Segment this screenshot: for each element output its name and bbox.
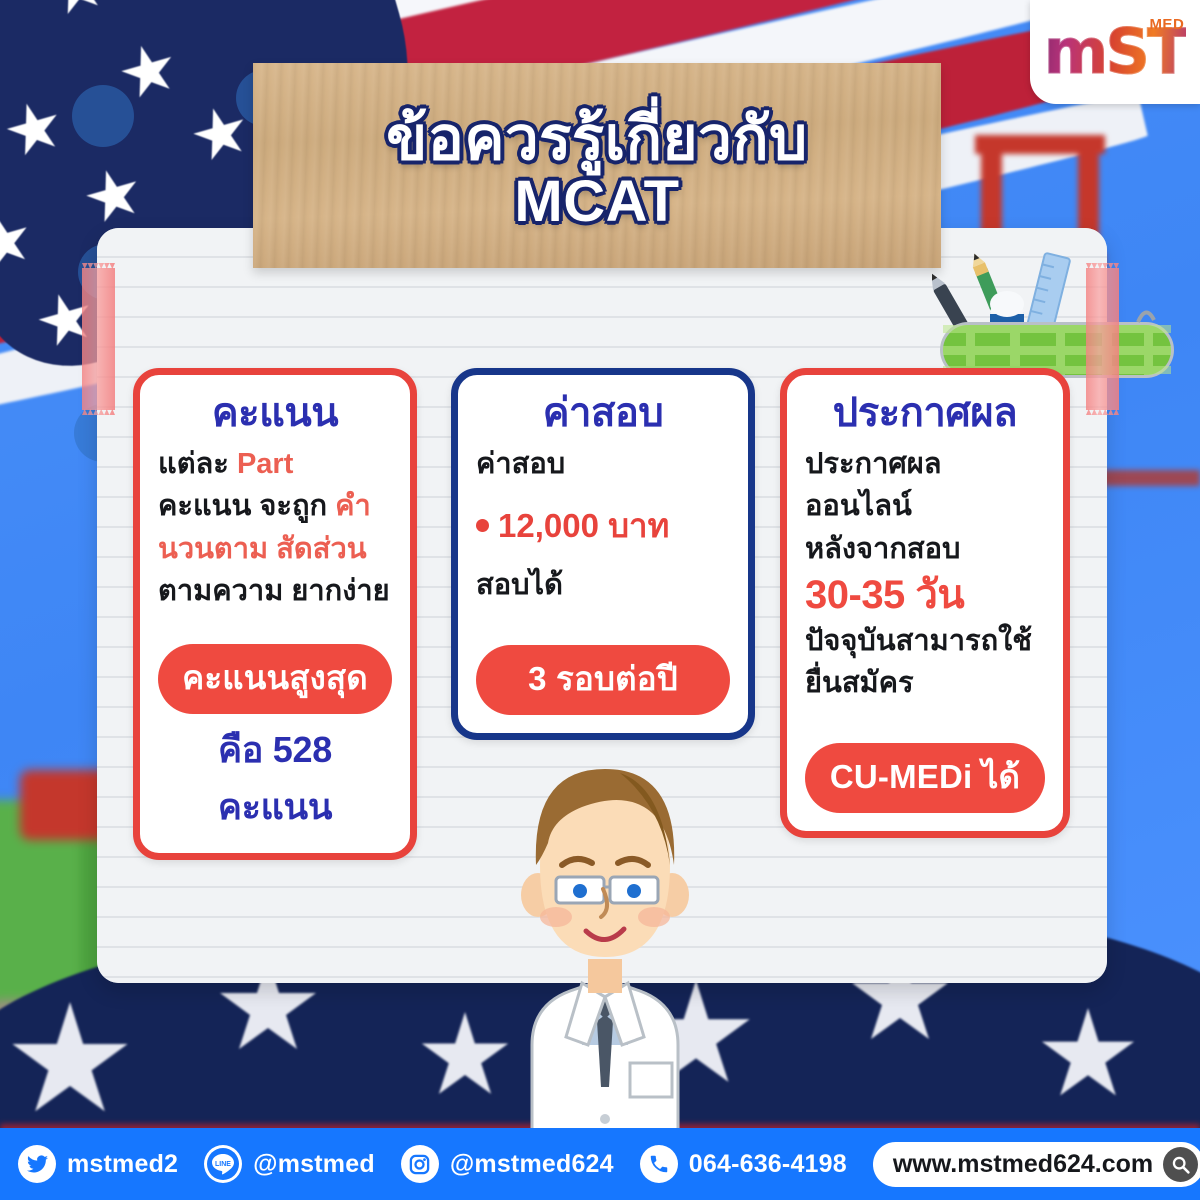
card-results-highlight: 30-35 วัน (805, 570, 1045, 620)
card-score-pill-caption: คือ 528 คะแนน (158, 721, 392, 835)
card-results-line1: ประกาศผลออนไลน์ (805, 443, 1045, 528)
card-fee-amount-row: 12,000 บาท (476, 499, 730, 552)
card-results-line4: ยื่นสมัคร (805, 662, 1045, 704)
website-pill[interactable]: www.mstmed624.com (873, 1142, 1200, 1187)
bullet-dot-icon (476, 519, 489, 532)
contact-line-label: @mstmed (253, 1150, 375, 1179)
score-run-3: คะแนน จะถูก (158, 490, 335, 522)
score-run-5: ตามความ ยากง่าย (158, 575, 390, 607)
instagram-icon (401, 1145, 439, 1183)
card-score-heading: คะแนน (158, 391, 392, 435)
website-url: www.mstmed624.com (893, 1150, 1153, 1179)
contact-twitter-label: mstmed2 (67, 1150, 178, 1179)
contact-phone[interactable]: 064-636-4198 (640, 1145, 847, 1183)
contact-line[interactable]: LINE @mstmed (204, 1145, 375, 1183)
card-fee-pill[interactable]: 3 รอบต่อปี (476, 645, 730, 715)
score-run-1: แต่ละ (158, 448, 237, 480)
bokeh-dot (72, 85, 134, 147)
line-icon: LINE (204, 1145, 242, 1183)
card-fee-subtext: สอบได้ (476, 564, 730, 606)
magnifier-icon[interactable] (1163, 1147, 1198, 1182)
card-score[interactable]: คะแนน แต่ละ Part คะแนน จะถูก คำนวนตาม สั… (133, 368, 417, 860)
phone-icon (640, 1145, 678, 1183)
score-run-2: Part (237, 448, 293, 480)
footer-bar: mstmed2 LINE @mstmed @mstmed624 (0, 1128, 1200, 1200)
infographic-canvas: mST MED (0, 0, 1200, 1200)
card-fee-amount: 12,000 บาท (498, 499, 669, 552)
card-fee-heading: ค่าสอบ (476, 391, 730, 435)
svg-text:LINE: LINE (215, 1161, 231, 1168)
card-score-pill[interactable]: คะแนนสูงสุด (158, 644, 392, 714)
doctor-illustration (470, 745, 740, 1135)
twitter-icon (18, 1145, 56, 1183)
contact-instagram-label: @mstmed624 (450, 1150, 614, 1179)
contact-twitter[interactable]: mstmed2 (18, 1145, 178, 1183)
card-score-body: แต่ละ Part คะแนน จะถูก คำนวนตาม สัดส่วน … (158, 443, 392, 612)
contact-phone-label: 064-636-4198 (689, 1150, 847, 1179)
card-results-line3: ปัจจุบันสามารถใช้ (805, 620, 1045, 662)
logo-superscript: MED (1149, 17, 1184, 32)
page-title-line1: ข้อควรรู้เกี่ยวกับ (386, 108, 807, 169)
washi-tape-left (82, 268, 115, 410)
contact-instagram[interactable]: @mstmed624 (401, 1145, 614, 1183)
card-fee-label: ค่าสอบ (476, 443, 730, 485)
washi-tape-right (1086, 268, 1119, 410)
card-results[interactable]: ประกาศผล ประกาศผลออนไลน์ หลังจากสอบ 30-3… (780, 368, 1070, 838)
card-results-line2: หลังจากสอบ (805, 528, 1045, 570)
card-results-pill[interactable]: CU-MEDi ได้ (805, 743, 1045, 813)
brand-logo[interactable]: mST MED (1030, 0, 1200, 104)
card-fee[interactable]: ค่าสอบ ค่าสอบ 12,000 บาท สอบได้ 3 รอบต่อ… (451, 368, 755, 740)
card-results-heading: ประกาศผล (805, 391, 1045, 435)
page-title-line2: MCAT (514, 172, 679, 231)
